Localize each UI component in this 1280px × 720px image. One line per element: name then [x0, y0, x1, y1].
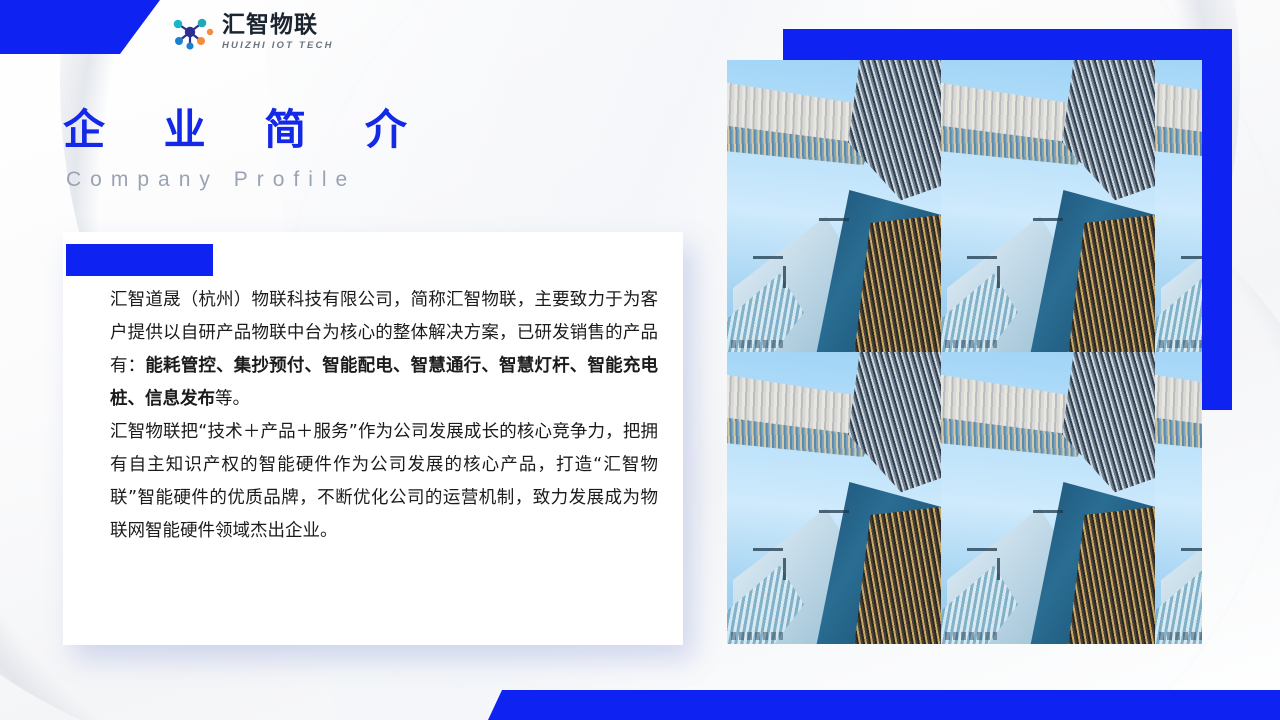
- profile-run-4: 汇智物联把“技术＋产品＋服务”作为公司发展成长的核心竞争力，把拥有自主知识产权的…: [110, 422, 658, 541]
- profile-paragraph-2: 汇智物联把“技术＋产品＋服务”作为公司发展成长的核心竞争力，把拥有自主知识产权的…: [110, 416, 658, 548]
- photo-tile: [941, 352, 1155, 644]
- watermark-mark: [945, 632, 997, 640]
- watermark-mark: [1159, 632, 1202, 640]
- brand-name-en: HUIZHI IOT TECH: [222, 41, 334, 51]
- profile-run-2-bold: 能耗管控、集抄预付、智能配电、智慧通行、智慧灯杆、智能充电桩、信息发布: [110, 356, 658, 409]
- page-subtitle: Company Profile: [66, 168, 356, 192]
- profile-text-body: 汇智道晟（杭州）物联科技有限公司，简称汇智物联，主要致力于为客户提供以自研产品物…: [110, 284, 658, 548]
- brand-logo-text: 汇智物联 HUIZHI IOT TECH: [222, 14, 334, 51]
- photo-tile: [1155, 352, 1202, 644]
- bottom-right-blue-bar: [488, 690, 1280, 720]
- watermark-mark: [731, 340, 783, 348]
- photo-tile: [941, 60, 1155, 352]
- page-title: 企 业 简 介: [63, 96, 429, 157]
- photo-tile: [1155, 60, 1202, 352]
- profile-card: 汇智道晟（杭州）物联科技有限公司，简称汇智物联，主要致力于为客户提供以自研产品物…: [63, 232, 683, 645]
- photo-collage: [727, 60, 1202, 645]
- watermark-mark: [731, 632, 783, 640]
- photo-tile: [727, 352, 941, 644]
- watermark-mark: [1159, 340, 1202, 348]
- profile-paragraph-1: 汇智道晟（杭州）物联科技有限公司，简称汇智物联，主要致力于为客户提供以自研产品物…: [110, 284, 658, 416]
- profile-run-3: 等。: [215, 389, 250, 409]
- photo-tile: [727, 60, 941, 352]
- slide-root: 汇智物联 HUIZHI IOT TECH 企 业 简 介 Company Pro…: [0, 0, 1280, 720]
- card-accent-tag: [66, 244, 213, 276]
- brand-name-cn: 汇智物联: [222, 14, 334, 37]
- brand-logo: 汇智物联 HUIZHI IOT TECH: [168, 12, 334, 52]
- watermark-mark: [945, 340, 997, 348]
- molecule-network-icon: [168, 12, 214, 52]
